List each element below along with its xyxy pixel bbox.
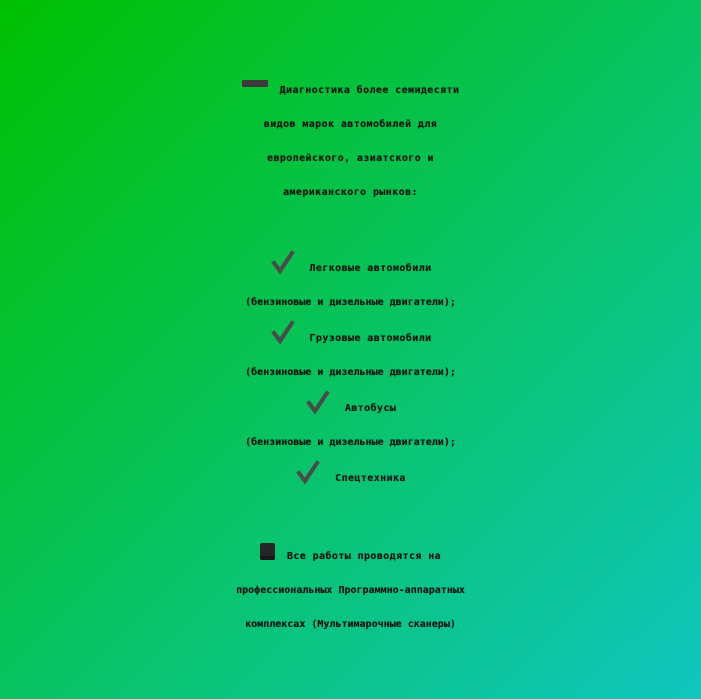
intro-line-2: видов марок автомобилей для: [0, 108, 701, 142]
footer-line-1-text: Все работы проводятся на: [287, 551, 441, 562]
square-marker-icon: [260, 543, 275, 560]
service-item-detail-2: (бензиновые и дизельные двигатели);: [0, 356, 701, 390]
service-item-title-2: Грузовые автомобили: [0, 320, 701, 356]
intro-block: Диагностика более семидесяти видов марок…: [0, 74, 701, 210]
service-title-4-text: Спецтехника: [335, 473, 406, 484]
check-marker-icon: [295, 460, 321, 486]
promo-poster: Диагностика более семидесяти видов марок…: [0, 0, 701, 699]
check-marker-icon: [305, 390, 331, 416]
service-item-title-4: Спецтехника: [0, 460, 701, 496]
footer-line-3: комплексах (Мультимарочные сканеры): [0, 608, 701, 642]
service-item-title-3: Автобусы: [0, 390, 701, 426]
intro-line-1: Диагностика более семидесяти: [0, 74, 701, 108]
intro-line-4: американского рынков:: [0, 176, 701, 210]
check-marker-icon: [270, 250, 296, 276]
service-item-detail-1: (бензиновые и дизельные двигатели);: [0, 286, 701, 320]
service-item-detail-3: (бензиновые и дизельные двигатели);: [0, 426, 701, 460]
check-marker-icon: [270, 320, 296, 346]
services-block: Легковые автомобили (бензиновые и дизель…: [0, 250, 701, 496]
intro-line-3: европейского, азиатского и: [0, 142, 701, 176]
service-title-2-text: Грузовые автомобили: [310, 333, 432, 344]
service-title-1-text: Легковые автомобили: [310, 263, 432, 274]
service-item-title-1: Легковые автомобили: [0, 250, 701, 286]
footer-line-2: профессиональных Программно-аппаратных: [0, 574, 701, 608]
dash-marker-icon: [242, 80, 268, 87]
service-title-3-text: Автобусы: [345, 403, 396, 414]
footer-block: Все работы проводятся на профессиональны…: [0, 540, 701, 642]
footer-line-1: Все работы проводятся на: [0, 540, 701, 574]
intro-line-1-text: Диагностика более семидесяти: [280, 85, 460, 96]
